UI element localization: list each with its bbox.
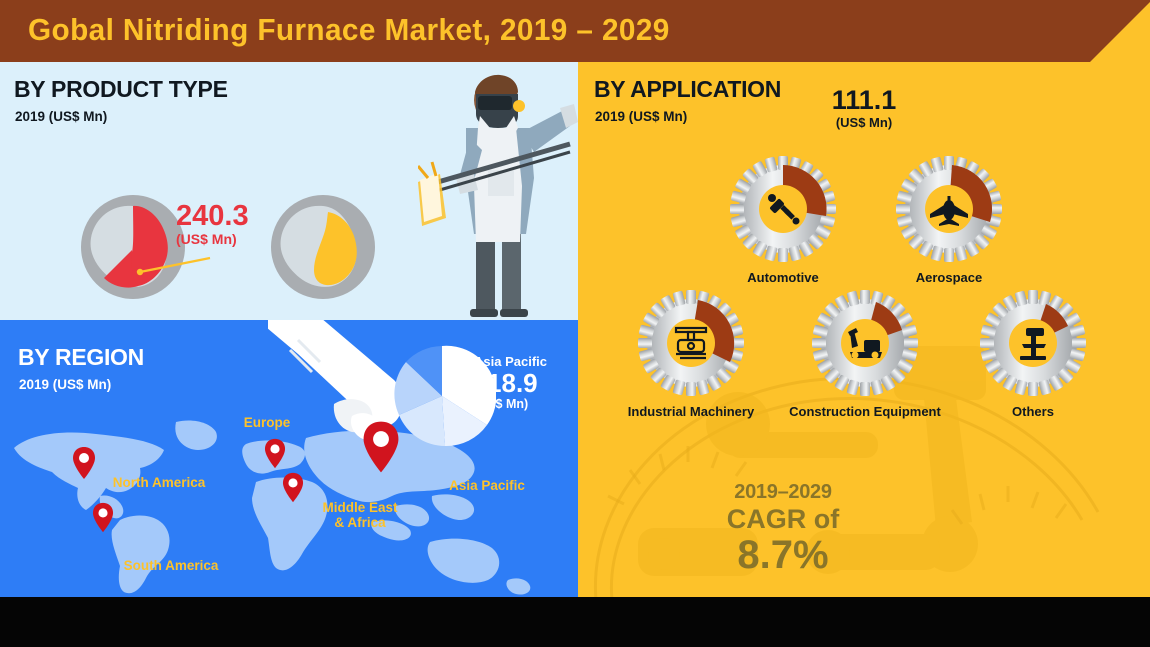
asia-pacific-callout: Asia Pacific 118.9 (US$ Mn) [474,355,578,411]
cagr-block: 2019–2029 CAGR of 8.7% [673,482,893,575]
asia-pacific-name: Asia Pacific [474,355,578,368]
map-pin-north-america[interactable] [72,446,96,480]
region-subtitle: 2019 (US$ Mn) [19,378,111,392]
application-subtitle: 2019 (US$ Mn) [595,110,687,124]
metalworker-illustration [418,66,578,320]
gear-label-aerospace: Aerospace [894,270,1004,285]
page-title: Gobal Nitriding Furnace Market, 2019 – 2… [28,12,670,48]
application-title: BY APPLICATION [594,78,781,101]
asia-pacific-value: 118.9 [474,370,578,396]
gear-automotive[interactable] [728,154,838,264]
asia-pacific-unit: (US$ Mn) [474,398,578,411]
map-label-south-america: South America [106,558,236,573]
gear-construction-equipment[interactable] [810,288,920,398]
region-panel: BY REGION 2019 (US$ Mn) North America So [0,320,578,597]
callout-leader-line [136,254,216,276]
map-label-europe: Europe [228,415,306,430]
cagr-years: 2019–2029 [673,482,893,502]
gear-aerospace[interactable] [894,154,1004,264]
gear-label-construction-equipment: Construction Equipment [780,404,950,419]
region-title: BY REGION [18,346,144,369]
map-label-north-america: North America [94,475,224,490]
map-pin-south-america[interactable] [92,502,114,533]
gear-others[interactable] [978,288,1088,398]
application-callout-value: 111.1 (US$ Mn) [804,87,924,129]
map-label-middle-east-africa: Middle East& Africa [308,500,412,530]
map-pin-middle-east-africa[interactable] [282,472,304,503]
infographic-page: Gobal Nitriding Furnace Market, 2019 – 2… [0,0,1150,647]
cagr-value: 8.7% [673,535,893,575]
map-label-asia-pacific: Asia Pacific [432,478,542,493]
gear-label-others: Others [978,404,1088,419]
application-panel: BY APPLICATION 2019 (US$ Mn) 111.1 (US$ … [578,62,1150,597]
product-type-panel: BY PRODUCT TYPE 2019 (US$ Mn) Thermal Ga… [0,62,578,320]
product-type-subtitle: 2019 (US$ Mn) [15,110,107,124]
vacuum-gas-blob-chart [248,192,398,302]
cagr-label: CAGR of [673,506,893,533]
product-callout-value: 240.3 (US$ Mn) [176,202,249,246]
gear-industrial-machinery[interactable] [636,288,746,398]
product-type-title: BY PRODUCT TYPE [14,78,228,101]
map-pin-europe[interactable] [264,438,286,469]
header-bar: Gobal Nitriding Furnace Market, 2019 – 2… [0,0,1150,62]
gear-label-automotive: Automotive [728,270,838,285]
footer-bar: market.us ONE STOP SHOP FOR THE REPORTS … [0,597,1150,647]
gear-label-industrial-machinery: Industrial Machinery [616,404,766,419]
